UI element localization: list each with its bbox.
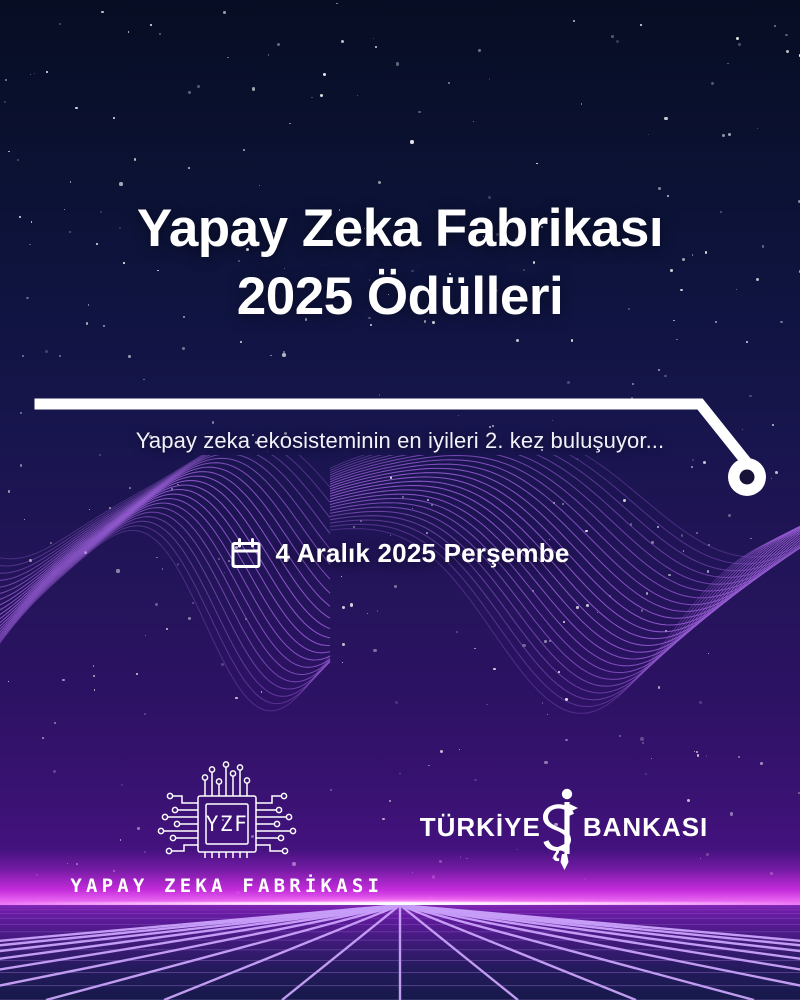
chip-label: YZF	[205, 812, 247, 836]
calendar-icon	[231, 538, 261, 569]
yzf-wordmark: YAPAY ZEKA FABRİKASI	[70, 875, 383, 897]
logo-row: YZF YAPAY ZEKA FABRİKASI TÜRKİYE	[0, 760, 800, 895]
is-bankasi-logo: TÜRKİYE	[420, 773, 709, 883]
subtitle: Yapay zeka ekosisteminin en iyileri 2. k…	[0, 428, 800, 454]
microchip-circuit-icon: YZF	[142, 758, 312, 868]
is-bankasi-monogram-icon	[539, 782, 585, 874]
page-title: Yapay Zeka Fabrikası 2025 Ödülleri	[0, 195, 800, 331]
title-line-2: 2025 Ödülleri	[0, 263, 800, 331]
bank-word-right: BANKASI	[583, 812, 708, 843]
poster-canvas: Yapay Zeka Fabrikası 2025 Ödülleri Yapay…	[0, 0, 800, 1000]
bank-word-left: TÜRKİYE	[420, 812, 541, 843]
date-row: 4 Aralık 2025 Perşembe	[0, 538, 800, 569]
poster-content: Yapay Zeka Fabrikası 2025 Ödülleri Yapay…	[0, 0, 800, 1000]
yzf-logo: YZF YAPAY ZEKA FABRİKASI	[92, 758, 362, 897]
event-date: 4 Aralık 2025 Perşembe	[276, 538, 570, 569]
title-line-1: Yapay Zeka Fabrikası	[0, 195, 800, 263]
